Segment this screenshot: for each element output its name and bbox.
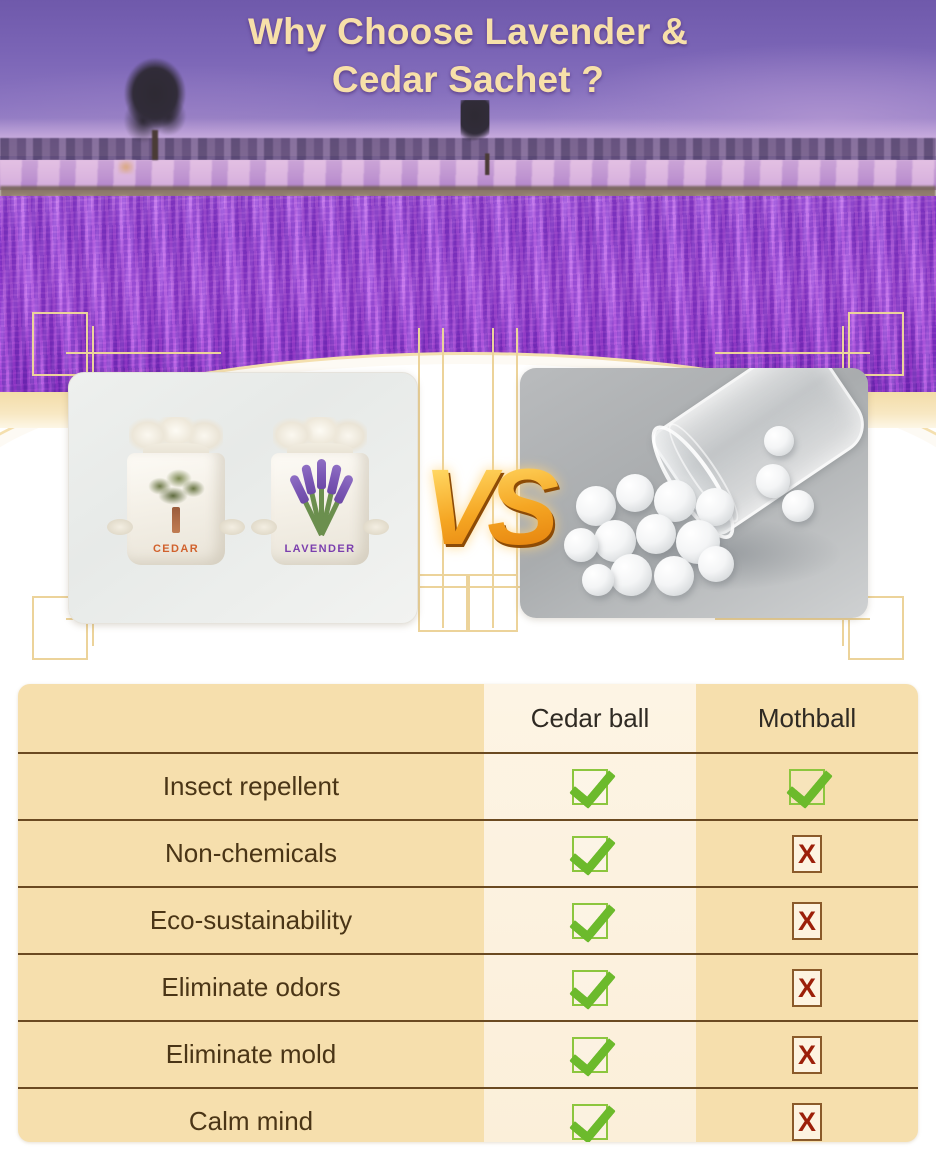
sachet-tie-right <box>219 519 245 535</box>
mothball <box>582 564 614 596</box>
row-feature-label: Eliminate mold <box>18 1039 484 1070</box>
sachet-tie-right <box>363 519 389 535</box>
row-feature-label: Eliminate odors <box>18 972 484 1003</box>
cell-cedar-ball <box>484 1037 696 1073</box>
page-title-line2: Cedar Sachet ? <box>0 56 936 104</box>
table-row: Eliminate odors X <box>18 953 918 1020</box>
mothball <box>654 556 694 596</box>
cell-mothball: X <box>696 1103 918 1141</box>
check-icon <box>572 1104 608 1140</box>
sachet-tie-left <box>107 519 133 535</box>
cell-cedar-ball <box>484 970 696 1006</box>
cross-icon: X <box>792 969 822 1007</box>
mothball <box>782 490 814 522</box>
sachet-tie-left <box>251 519 277 535</box>
header-mothball: Mothball <box>696 703 918 734</box>
check-icon <box>572 836 608 872</box>
check-icon <box>572 769 608 805</box>
comparison-table: Cedar ball Mothball Insect repellent Non… <box>18 684 918 1142</box>
cell-cedar-ball <box>484 836 696 872</box>
versus-badge: VS <box>412 440 562 580</box>
check-icon <box>789 769 825 805</box>
sachet-cedar-label: CEDAR <box>121 543 231 555</box>
table-header-row: Cedar ball Mothball <box>18 684 918 752</box>
cell-mothball: X <box>696 1036 918 1074</box>
table-row: Eco-sustainability X <box>18 886 918 953</box>
cell-mothball: X <box>696 969 918 1007</box>
mothball <box>698 546 734 582</box>
sachet-lavender-label: LAVENDER <box>265 543 375 555</box>
cell-cedar-ball <box>484 769 696 805</box>
cross-icon: X <box>792 1103 822 1141</box>
cell-mothball <box>696 769 918 805</box>
sachet-cedar: CEDAR <box>121 415 231 565</box>
mothball <box>756 464 790 498</box>
mothball <box>764 426 794 456</box>
page-title-line1: Why Choose Lavender & <box>248 11 688 52</box>
header-cedar-ball: Cedar ball <box>484 703 696 734</box>
secondary-tree-icon <box>461 100 490 142</box>
row-feature-label: Eco-sustainability <box>18 905 484 936</box>
cross-icon: X <box>792 1036 822 1074</box>
cell-mothball: X <box>696 902 918 940</box>
row-feature-label: Calm mind <box>18 1106 484 1137</box>
cross-icon: X <box>792 902 822 940</box>
cell-mothball: X <box>696 835 918 873</box>
row-feature-label: Insect repellent <box>18 771 484 802</box>
table-row: Non-chemicals X <box>18 819 918 886</box>
table-row: Eliminate mold X <box>18 1020 918 1087</box>
product-photo-sachets: CEDAR LAVENDER <box>68 372 418 624</box>
check-icon <box>572 903 608 939</box>
sachet-lavender: LAVENDER <box>265 415 375 565</box>
product-photo-mothballs <box>520 368 868 618</box>
lavender-sprig-icon <box>289 465 351 535</box>
check-icon <box>572 1037 608 1073</box>
field-highlight <box>118 160 134 174</box>
cross-icon: X <box>792 835 822 873</box>
mothball <box>636 514 676 554</box>
row-feature-label: Non-chemicals <box>18 838 484 869</box>
cell-cedar-ball <box>484 903 696 939</box>
mothball <box>616 474 654 512</box>
table-row: Calm mind X <box>18 1087 918 1142</box>
check-icon <box>572 970 608 1006</box>
mothball <box>610 554 652 596</box>
page-title: Why Choose Lavender & Cedar Sachet ? <box>0 8 936 104</box>
mothball <box>564 528 598 562</box>
table-row: Insect repellent <box>18 752 918 819</box>
cell-cedar-ball <box>484 1104 696 1140</box>
cedar-tree-icon <box>147 467 205 533</box>
